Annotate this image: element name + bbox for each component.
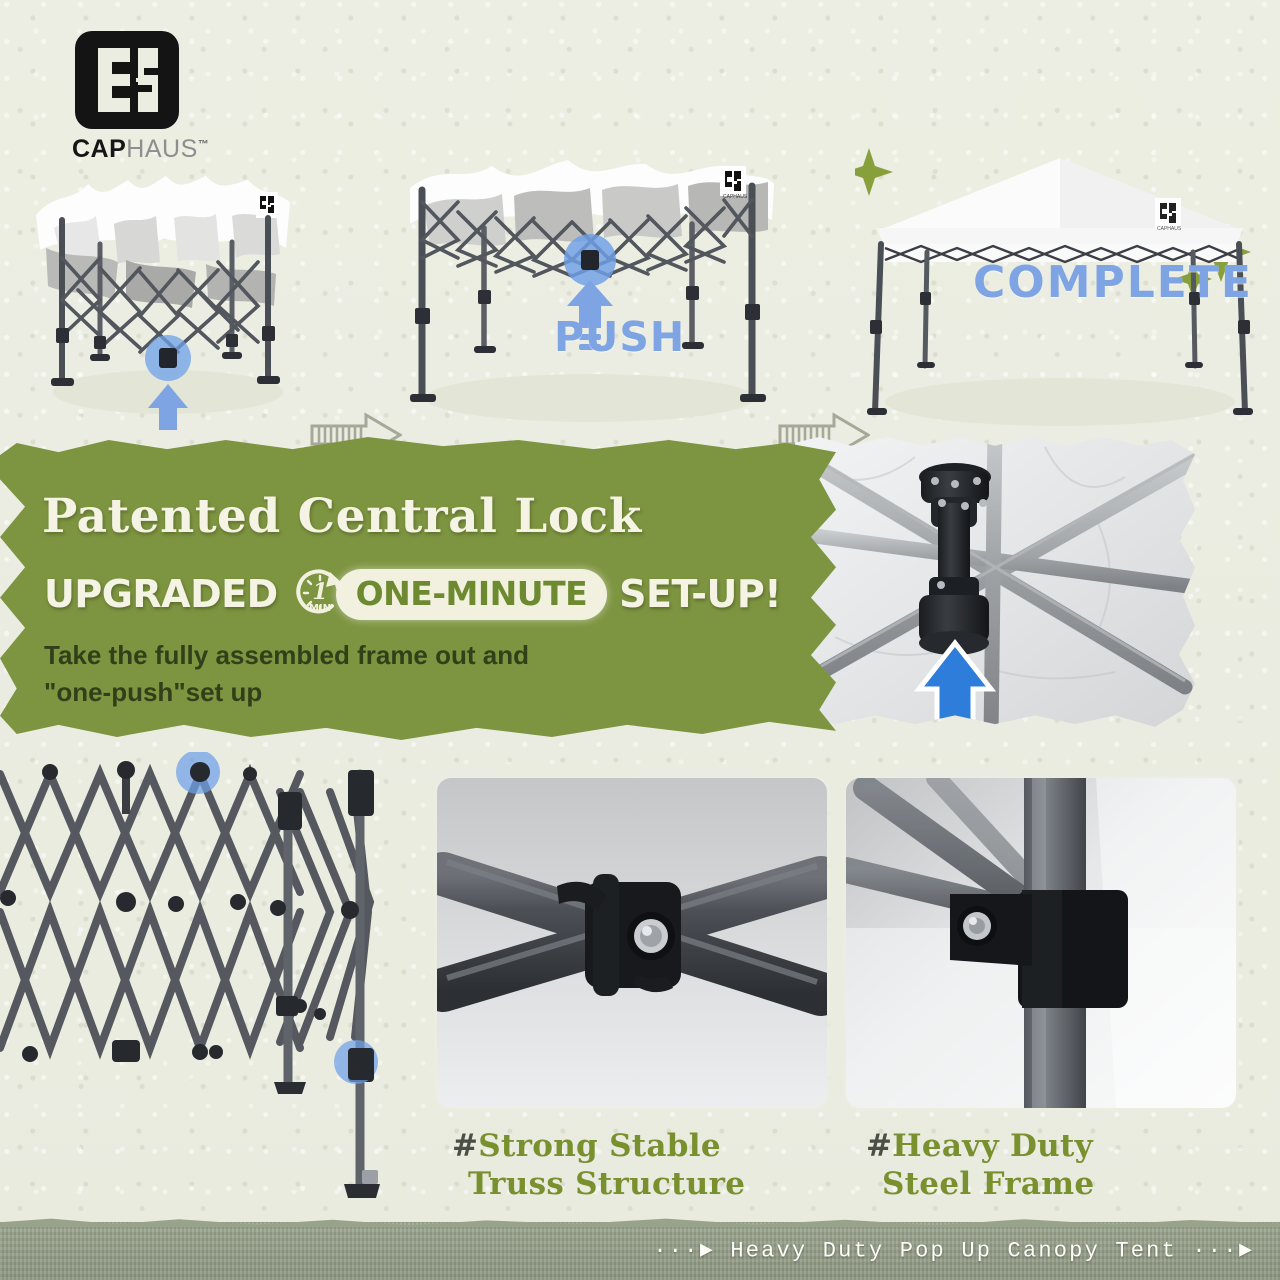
step-1-collapsed-frame [18,140,308,430]
feature-caption-truss: #Strong Stable Truss Structure [452,1128,745,1204]
feature-caption-steel-line2: Steel Frame [882,1166,1094,1202]
caphaus-ch-monogram-icon [72,28,182,132]
hash-symbol: # [452,1128,478,1164]
one-minute-badge: ONE-MINUTE [336,569,608,620]
feature-caption-steel: #Heavy Duty Steel Frame [866,1128,1094,1204]
setup-steps-row: CAPHAUS [0,140,1280,430]
svg-text:CAPHAUS: CAPHAUS [1157,226,1182,232]
banner-description-line1: Take the fully assembled frame out and [44,637,644,674]
footer-band: ···► Heavy Duty Pop Up Canopy Tent ···► [0,1222,1280,1280]
infographic-page: CAPHAUS™ [0,0,1280,1280]
step-2-label: PUSH [554,313,685,361]
one-minute-clock-icon: 1 MIN [292,566,348,622]
banner-upgraded-label: UPGRADED [44,572,278,616]
hash-symbol: # [866,1128,892,1164]
central-lock-closeup-photo [795,437,1195,727]
central-lock-photo-art [795,437,1195,727]
clock-unit: MIN [309,603,331,614]
collapsed-canopy-tent-illustration [18,140,308,430]
svg-text:CAPHAUS: CAPHAUS [723,194,748,200]
step-3-complete: CAPHAUS [855,140,1265,430]
truss-joint-photo-art [437,778,827,1108]
step-2-push-center-lock: CAPHAUS [400,140,780,430]
one-minute-badge-label: ONE-MINUTE [356,574,588,613]
partially-raised-canopy-tent-illustration: CAPHAUS [400,140,780,430]
steel-frame-joint-closeup-photo [846,778,1236,1108]
banner-description-line2: "one-push"set up [44,674,644,711]
banner-setup-label: SET-UP! [619,572,781,616]
banner-setup-line: UPGRADED 1 MIN ONE-MINUTE SET-UP! [44,563,781,625]
truss-joint-closeup-photo [437,778,827,1108]
banner-description: Take the fully assembled frame out and "… [44,637,644,711]
central-lock-banner: Patented Central Lock UPGRADED 1 MIN ONE… [0,437,836,740]
truss-frame-diagram [0,752,430,1212]
clock-number: 1 [312,579,327,605]
footer-tagline: ···► Heavy Duty Pop Up Canopy Tent ···► [653,1239,1254,1264]
feature-caption-steel-line1: Heavy Duty [892,1128,1093,1164]
truss-frame-diagram-art [0,752,430,1212]
feature-caption-truss-line2: Truss Structure [468,1166,745,1202]
feature-caption-truss-line1: Strong Stable [478,1128,721,1164]
steel-frame-joint-photo-art [846,778,1236,1108]
step-3-label: COMPLETE [973,257,1253,308]
banner-title: Patented Central Lock [42,489,642,544]
